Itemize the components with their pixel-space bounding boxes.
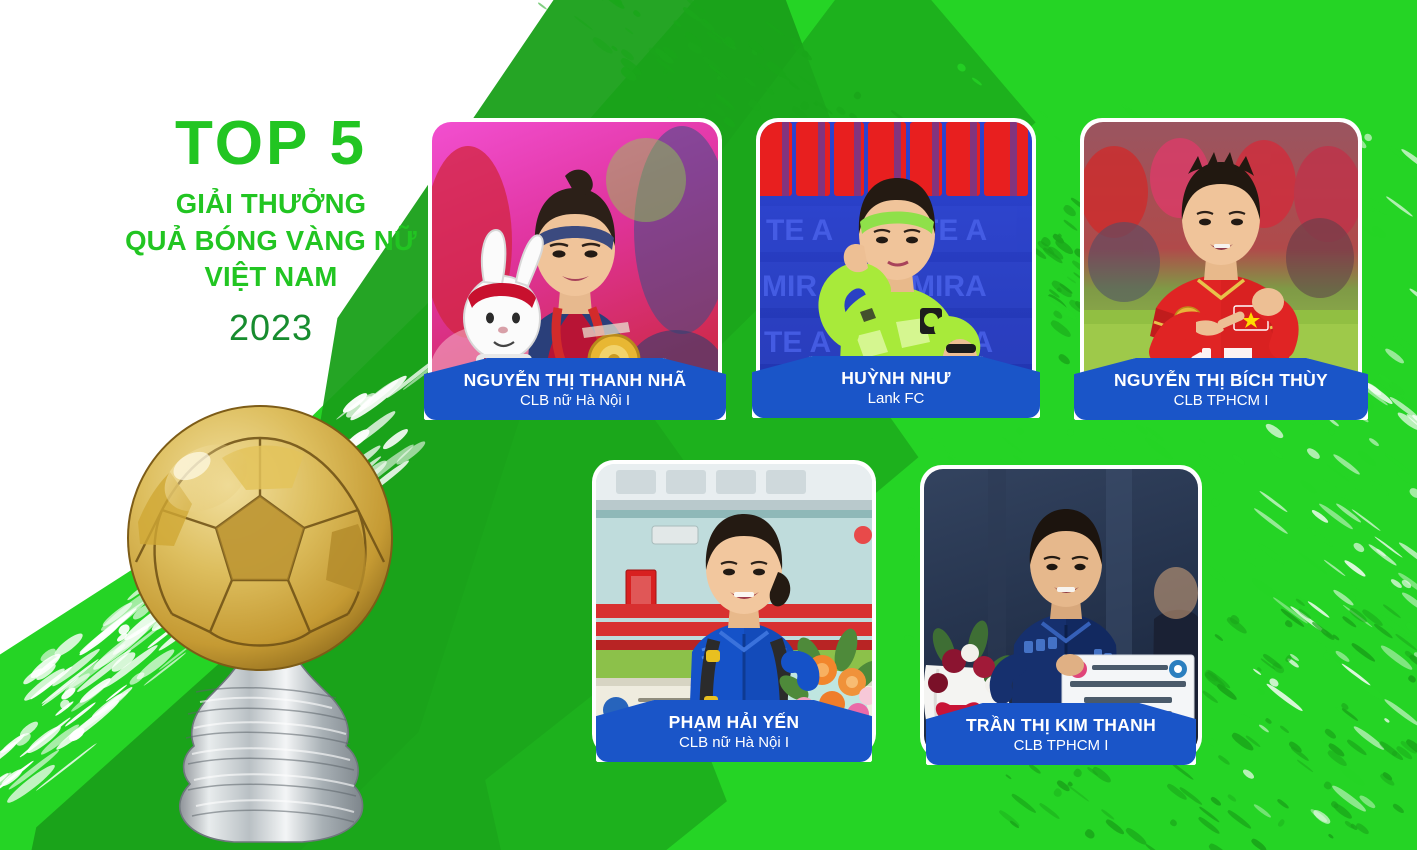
subtitle-line-1: GIẢI THƯỞNG xyxy=(96,186,446,222)
player-nameplate-1: NGUYỄN THỊ THANH NHÃ CLB nữ Hà Nội I xyxy=(424,358,726,420)
player-club-1: CLB nữ Hà Nội I xyxy=(438,392,712,411)
player-club-5: CLB TPHCM I xyxy=(940,737,1182,756)
player-club-2: Lank FC xyxy=(766,390,1026,409)
player-card-3[interactable]: NGUYỄN THỊ BÍCH THÙY CLB TPHCM I xyxy=(1080,118,1362,414)
poster-canvas: TOP 5 GIẢI THƯỞNG QUẢ BÓNG VÀNG NỮ VIỆT … xyxy=(0,0,1417,850)
player-name-4: PHẠM HẢI YẾN xyxy=(610,713,858,732)
player-card-1[interactable]: NGUYỄN THỊ THANH NHÃ CLB nữ Hà Nội I xyxy=(428,118,722,414)
subtitle-line-3: VIỆT NAM xyxy=(96,259,446,295)
player-nameplate-2: HUỲNH NHƯ Lank FC xyxy=(752,356,1040,418)
player-name-2: HUỲNH NHƯ xyxy=(766,369,1026,388)
player-nameplate-4: PHẠM HẢI YẾN CLB nữ Hà Nội I xyxy=(596,700,872,762)
golden-ball-trophy xyxy=(96,392,426,847)
poster-title-block: TOP 5 GIẢI THƯỞNG QUẢ BÓNG VÀNG NỮ VIỆT … xyxy=(96,112,446,349)
player-name-5: TRẦN THỊ KIM THANH xyxy=(940,716,1182,735)
title-top5: TOP 5 xyxy=(96,112,446,175)
player-nameplate-5: TRẦN THỊ KIM THANH CLB TPHCM I xyxy=(926,703,1196,765)
title-subtitle: GIẢI THƯỞNG QUẢ BÓNG VÀNG NỮ VIỆT NAM xyxy=(96,186,446,295)
svg-text:TE A: TE A xyxy=(766,214,833,247)
player-nameplate-3: NGUYỄN THỊ BÍCH THÙY CLB TPHCM I xyxy=(1074,358,1368,420)
player-club-3: CLB TPHCM I xyxy=(1088,392,1354,411)
svg-text:MIR: MIR xyxy=(762,270,817,303)
player-card-4[interactable]: PHẠM HẢI YẾN CLB nữ Hà Nội I xyxy=(592,460,876,756)
title-year: 2023 xyxy=(96,307,446,349)
svg-text:TE A: TE A xyxy=(764,326,831,359)
player-club-4: CLB nữ Hà Nội I xyxy=(610,734,858,753)
player-name-1: NGUYỄN THỊ THANH NHÃ xyxy=(438,371,712,390)
player-card-5[interactable]: TRẦN THỊ KIM THANH CLB TPHCM I xyxy=(920,465,1202,759)
player-name-3: NGUYỄN THỊ BÍCH THÙY xyxy=(1088,371,1354,390)
player-card-2[interactable]: TE A -TE A MIR MIRA TE A -TE A xyxy=(756,118,1036,412)
subtitle-line-2: QUẢ BÓNG VÀNG NỮ xyxy=(96,223,446,259)
